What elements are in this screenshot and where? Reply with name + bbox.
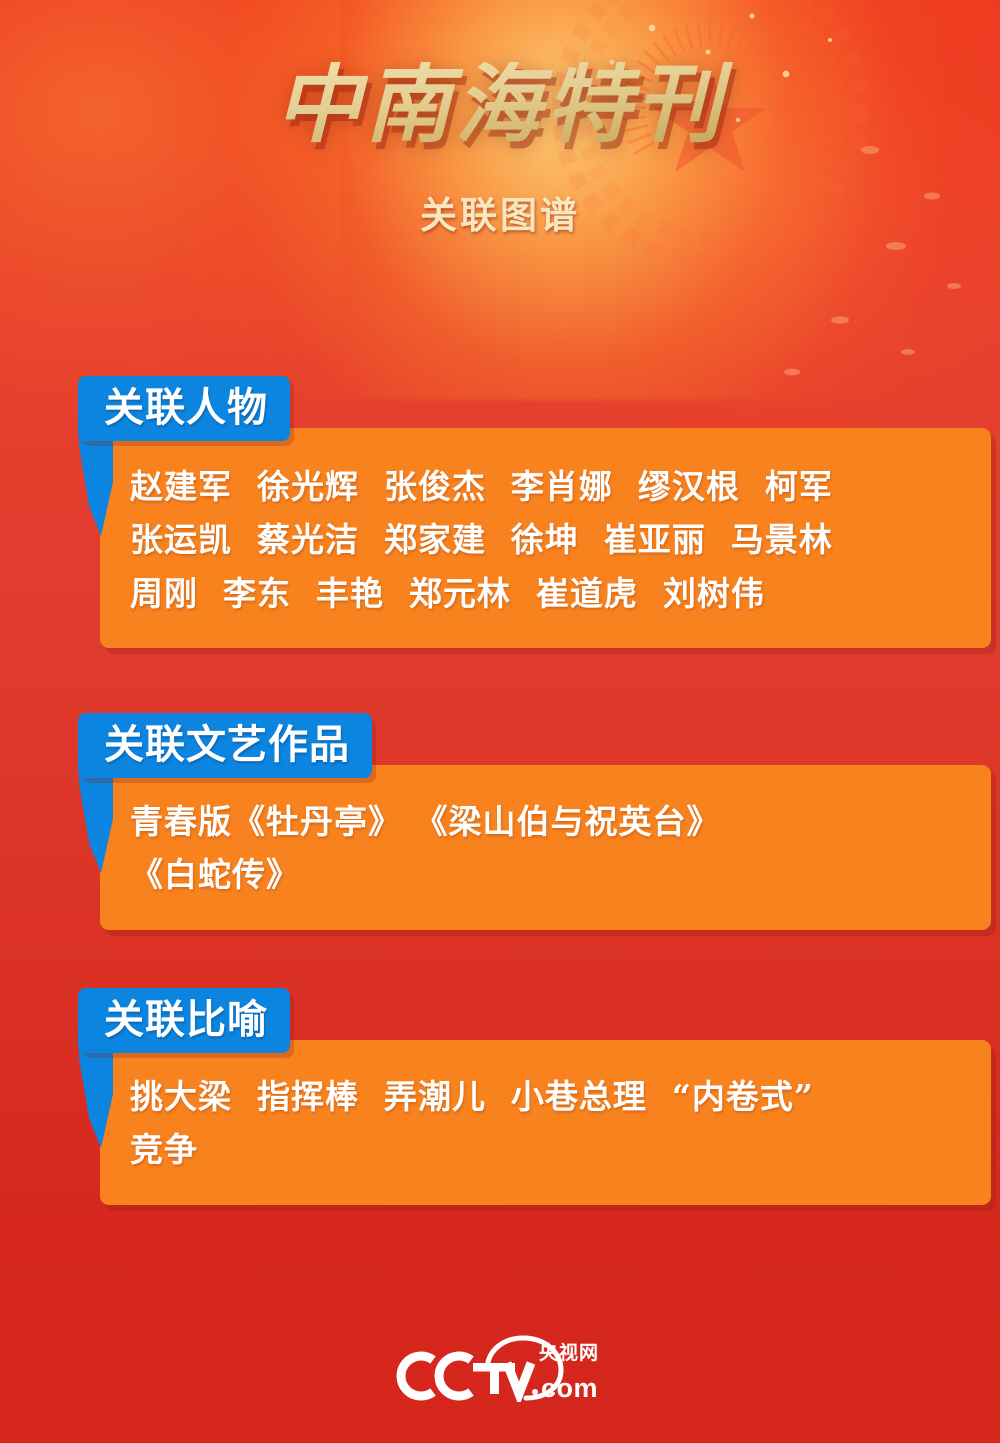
cctv-logo-cn-label: 央视网 (539, 1341, 599, 1364)
tab-related-metaphors[interactable]: 关联比喻 (78, 988, 290, 1053)
svg-text:com: com (541, 1373, 598, 1402)
poster-root: 中南海特刊 关联图谱 赵建军 徐光辉 张俊杰 李肖娜 缪汉根 柯军 张运凯 蔡光… (0, 0, 1000, 1443)
content-card: 赵建军 徐光辉 张俊杰 李肖娜 缪汉根 柯军 张运凯 蔡光洁 郑家建 徐坤 崔亚… (100, 428, 991, 648)
tab-label: 关联人物 (104, 384, 268, 431)
card-content-text: 青春版《牡丹亭》 《梁山伯与祝英台》 《白蛇传》 (100, 765, 991, 930)
tab-label: 关联比喻 (104, 996, 268, 1043)
card-content-text: 挑大梁 指挥棒 弄潮儿 小巷总理 “内卷式” 竞争 (100, 1040, 991, 1205)
tab-label: 关联文艺作品 (104, 721, 350, 768)
content-card: 青春版《牡丹亭》 《梁山伯与祝英台》 《白蛇传》 (100, 765, 991, 930)
section-tab-wrap: 关联文艺作品 (78, 713, 372, 778)
page-title: 中南海特刊 (0, 62, 1000, 148)
cctv-logo-icon: com 央视网 (395, 1330, 605, 1402)
footer: com 央视网 (0, 1330, 1000, 1402)
page-subtitle: 关联图谱 (0, 185, 1000, 239)
tab-related-works[interactable]: 关联文艺作品 (78, 713, 372, 778)
section-tab-wrap: 关联比喻 (78, 988, 290, 1053)
tab-related-people[interactable]: 关联人物 (78, 376, 290, 441)
card-content-text: 赵建军 徐光辉 张俊杰 李肖娜 缪汉根 柯军 张运凯 蔡光洁 郑家建 徐坤 崔亚… (100, 428, 991, 648)
content-card: 挑大梁 指挥棒 弄潮儿 小巷总理 “内卷式” 竞争 (100, 1040, 991, 1205)
section-tab-wrap: 关联人物 (78, 376, 290, 441)
poster-header: 中南海特刊 关联图谱 (0, 0, 1000, 250)
